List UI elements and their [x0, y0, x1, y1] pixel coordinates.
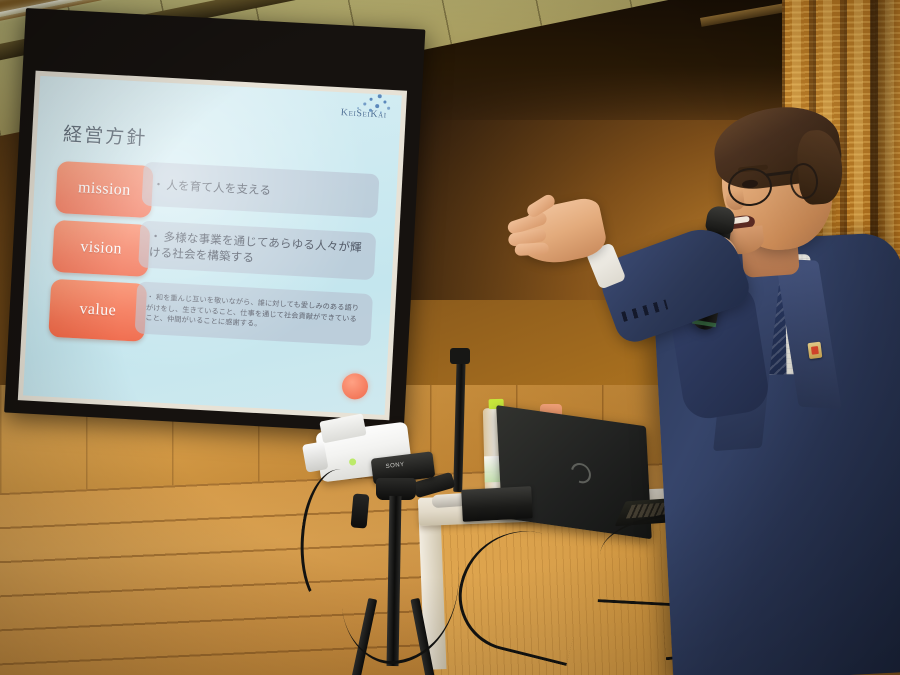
projection-screen-mat: KeiSeiKai 経営方針 mission ・人を育て人を支える	[18, 71, 407, 421]
projected-slide: KeiSeiKai 経営方針 mission ・人を育て人を支える	[23, 76, 402, 415]
sleeve-buttons	[621, 300, 668, 322]
projection-screen-frame: KeiSeiKai 経営方針 mission ・人を育て人を支える	[4, 8, 425, 434]
laptop-logo-icon	[567, 460, 595, 487]
finger	[514, 242, 549, 256]
tripod-brand-label: SONY	[385, 462, 405, 470]
screen-glare	[23, 76, 402, 415]
receiver-box	[461, 486, 533, 522]
camera-led-icon	[349, 458, 357, 466]
mic-clamp	[450, 348, 470, 364]
camera-lens-icon	[302, 441, 329, 472]
lapel-pin-icon	[807, 342, 822, 359]
photo-scene: KeiSeiKai 経営方針 mission ・人を育て人を支える	[0, 0, 900, 675]
